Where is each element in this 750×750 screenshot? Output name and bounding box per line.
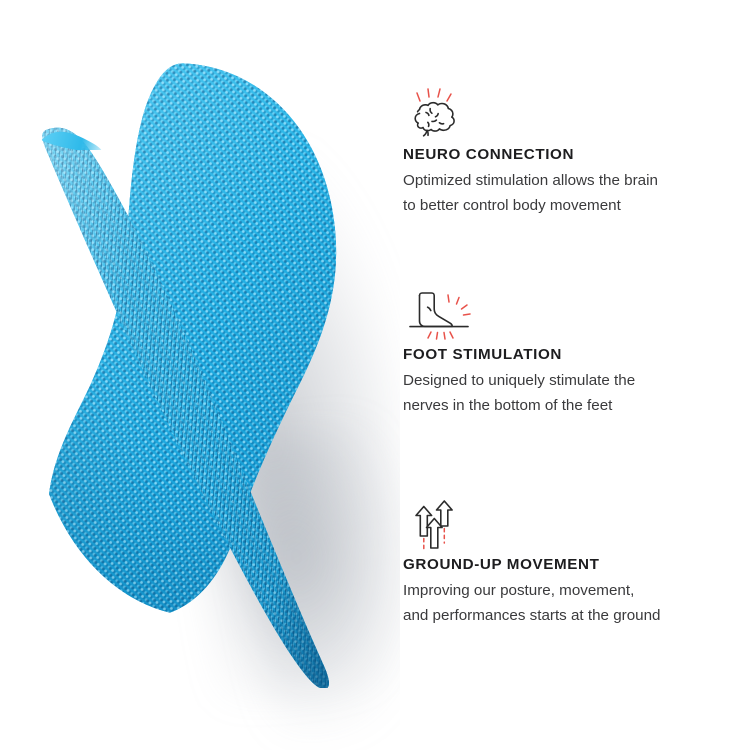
standing-insole bbox=[38, 118, 348, 688]
standing-insole-nub-texture bbox=[38, 118, 348, 688]
feature-list: NEURO CONNECTION Optimized stimulation a… bbox=[403, 0, 750, 750]
feature-foot-stimulation: FOOT STIMULATION Designed to uniquely st… bbox=[403, 288, 750, 418]
feature-title: GROUND-UP MOVEMENT bbox=[403, 556, 750, 574]
feature-description: Designed to uniquely stimulate the nerve… bbox=[403, 369, 703, 418]
feature-title: FOOT STIMULATION bbox=[403, 346, 750, 364]
brain-icon bbox=[406, 88, 750, 146]
feature-description-line: nerves in the bottom of the feet bbox=[403, 394, 703, 419]
feature-description-line: Optimized stimulation allows the brain bbox=[403, 169, 703, 194]
feature-description: Optimized stimulation allows the brain t… bbox=[403, 169, 703, 218]
upward-arrows-icon bbox=[406, 498, 750, 556]
feature-title: NEURO CONNECTION bbox=[403, 146, 750, 164]
feature-description: Improving our posture, movement, and per… bbox=[403, 579, 703, 628]
feature-description-line: and performances starts at the ground bbox=[403, 604, 703, 629]
feature-description-line: to better control body movement bbox=[403, 194, 703, 219]
product-image-panel bbox=[0, 0, 400, 750]
foot-stimulation-icon bbox=[406, 288, 750, 346]
standing-insole-surface bbox=[38, 118, 348, 688]
feature-neuro-connection: NEURO CONNECTION Optimized stimulation a… bbox=[403, 88, 750, 218]
feature-description-line: Designed to uniquely stimulate the bbox=[403, 369, 703, 394]
feature-description-line: Improving our posture, movement, bbox=[403, 579, 703, 604]
infographic-canvas: NEURO CONNECTION Optimized stimulation a… bbox=[0, 0, 750, 750]
feature-ground-up-movement: GROUND-UP MOVEMENT Improving our posture… bbox=[403, 498, 750, 628]
